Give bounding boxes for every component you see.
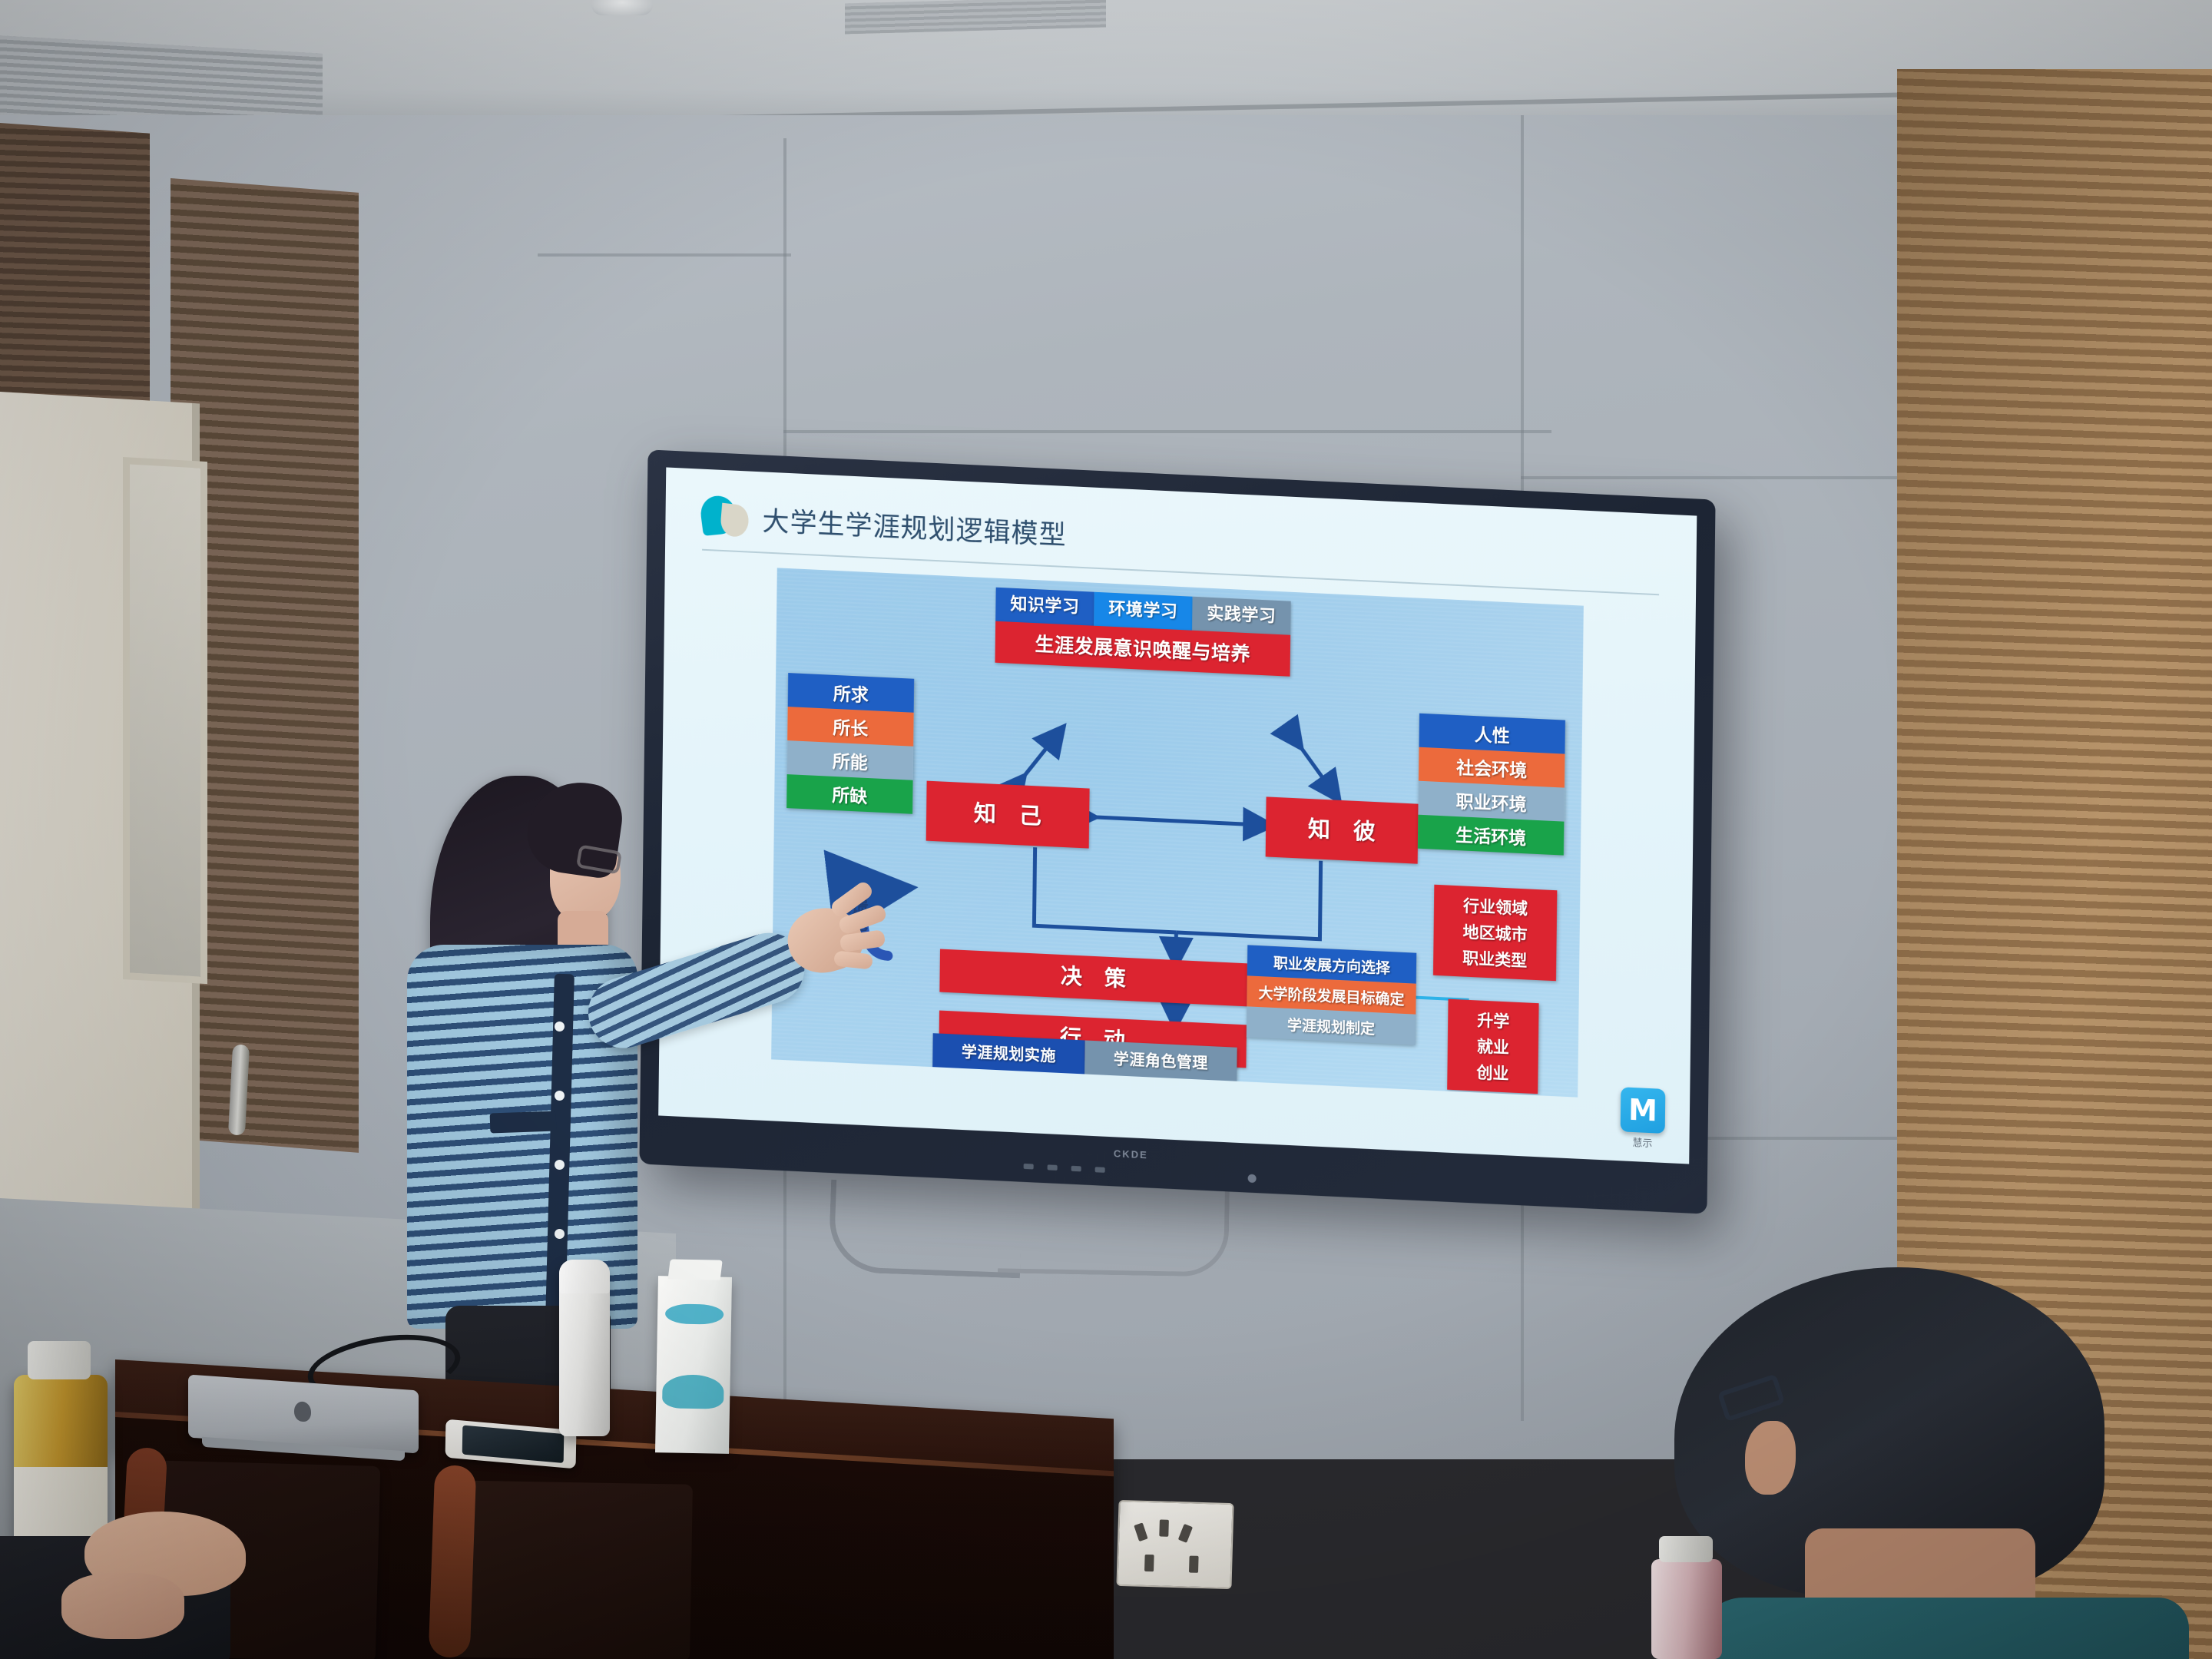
milk-carton-graphic-top <box>665 1303 724 1324</box>
box-practice-learning: 实践学习 <box>1192 597 1291 635</box>
line-employment: 就业 <box>1477 1034 1509 1058</box>
display-key-1[interactable] <box>1024 1164 1034 1170</box>
career-planning-diagram: 知识学习 环境学习 实践学习 生涯发展意识唤醒与培养 所求 所长 所能 所缺 知… <box>771 568 1584 1097</box>
line-region: 地区城市 <box>1462 920 1527 946</box>
display-screen[interactable]: 大学生学涯规划逻辑模型 <box>658 467 1697 1164</box>
line-further-study: 升学 <box>1477 1008 1509 1032</box>
row-suo-chang: 所长 <box>787 707 914 747</box>
box-knowledge-learning: 知识学习 <box>995 588 1094 626</box>
audience-man-foreground <box>1674 1267 2166 1659</box>
line-industry: 行业领域 <box>1463 894 1528 920</box>
display-wall-mount <box>828 1180 1023 1279</box>
ceiling-light-fixture <box>591 0 653 15</box>
line-entrepreneurship: 创业 <box>1476 1060 1508 1084</box>
row-suo-que: 所缺 <box>786 774 913 814</box>
milk-carton-graphic-bottom <box>662 1374 724 1409</box>
slide-title: 大学生学涯规划逻辑模型 <box>762 499 1067 553</box>
stack-self-attributes: 所求 所长 所能 所缺 <box>786 673 914 814</box>
row-life-environment: 生活环境 <box>1418 815 1565 856</box>
row-suo-qiu: 所求 <box>788 673 915 713</box>
box-environment-learning: 环境学习 <box>1094 592 1193 631</box>
power-socket[interactable] <box>1116 1500 1233 1589</box>
wooden-chair-arm-2 <box>429 1465 477 1658</box>
wooden-chair-back-2[interactable] <box>444 1480 693 1659</box>
presenter-button-4 <box>555 1229 565 1239</box>
wall-panel-seam-3 <box>783 430 1551 433</box>
audience-left-hand-lower <box>61 1573 184 1639</box>
drink-bottle-right[interactable] <box>1651 1559 1722 1659</box>
tea-bottle-cap[interactable] <box>28 1341 91 1379</box>
wall-panel-seam-4 <box>1521 476 1905 479</box>
presenter-button-1 <box>555 1022 565 1031</box>
wall-panel-seam-6 <box>538 253 791 257</box>
door-glass-pane <box>123 457 207 984</box>
watermark-letter-icon: M <box>1621 1087 1666 1134</box>
presenter-button-3 <box>555 1160 565 1170</box>
display-key-4[interactable] <box>1095 1167 1105 1173</box>
display-control-keys[interactable] <box>1024 1164 1105 1173</box>
interactive-flat-panel-display[interactable]: 大学生学涯规划逻辑模型 <box>639 449 1715 1214</box>
display-cable <box>998 1181 1230 1277</box>
box-know-other: 知 彼 <box>1266 796 1419 863</box>
display-key-3[interactable] <box>1071 1166 1081 1172</box>
thermos-cap[interactable] <box>559 1260 610 1293</box>
milk-carton[interactable] <box>655 1276 732 1454</box>
stack-external-environment: 人性 社会环境 职业环境 生活环境 <box>1418 714 1565 856</box>
audience-man-shirt <box>1697 1598 2189 1659</box>
presentation-slide: 大学生学涯规划逻辑模型 <box>658 467 1697 1164</box>
box-role-management: 学涯角色管理 <box>1084 1041 1237 1081</box>
watermark-label: 慧示 <box>1614 1134 1671 1151</box>
box-further-study-employment-startup: 升学 就业 创业 <box>1447 999 1538 1094</box>
line-occupation-type: 职业类型 <box>1462 946 1527 972</box>
stack-decision-outputs: 职业发展方向选择 大学阶段发展目标确定 学涯规划制定 <box>1247 945 1416 1045</box>
row-suo-neng: 所能 <box>787 740 914 780</box>
box-know-self: 知 己 <box>926 781 1090 849</box>
display-brand-label: CKDE <box>1114 1147 1148 1161</box>
conference-room-scene: 大学生学涯规划逻辑模型 <box>0 0 2212 1659</box>
teardrop-leaf-logo-icon <box>700 494 749 541</box>
display-power-indicator-icon <box>1248 1174 1257 1184</box>
laptop-logo-icon <box>294 1401 311 1422</box>
smartphone-screen[interactable] <box>462 1426 565 1463</box>
presenter-button-2 <box>555 1091 565 1101</box>
audience-man-ear <box>1745 1421 1796 1495</box>
box-plan-implementation: 学涯规划实施 <box>932 1033 1085 1074</box>
presenter-pocket <box>490 1111 557 1134</box>
slide-watermark: M 慧示 <box>1614 1087 1671 1151</box>
box-industry-region-type: 行业领域 地区城市 职业类型 <box>1433 885 1557 982</box>
audience-hands-left <box>0 1490 369 1659</box>
display-key-2[interactable] <box>1048 1164 1058 1171</box>
milk-carton-top <box>668 1259 723 1280</box>
drink-bottle-right-cap[interactable] <box>1659 1536 1713 1562</box>
thermos-bottle[interactable] <box>559 1260 610 1436</box>
